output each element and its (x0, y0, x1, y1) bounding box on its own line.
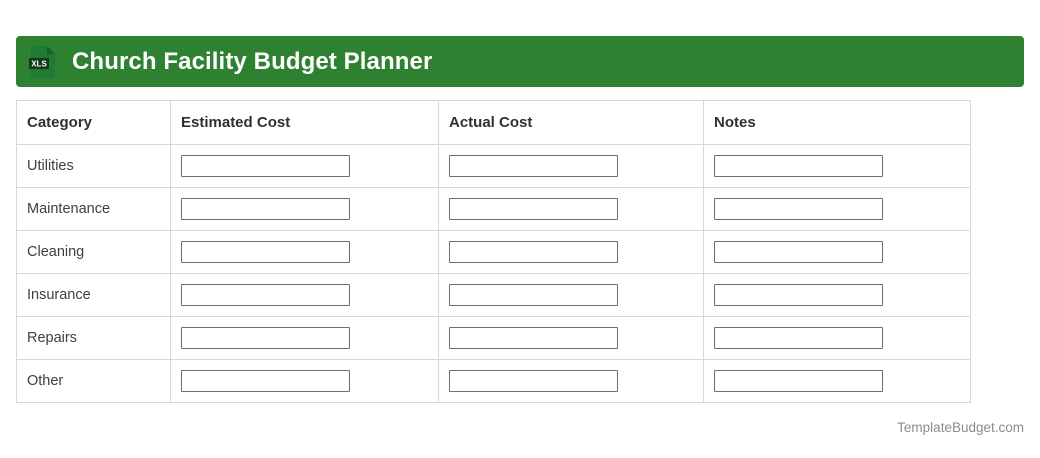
estimated-cost-input[interactable] (181, 327, 350, 349)
notes-cell (704, 188, 971, 231)
actual-cost-cell (439, 231, 704, 274)
category-label: Utilities (17, 145, 171, 188)
estimated-cost-input[interactable] (181, 370, 350, 392)
column-header-notes: Notes (704, 101, 971, 145)
category-label: Cleaning (17, 231, 171, 274)
estimated-cost-cell (171, 188, 439, 231)
actual-cost-input[interactable] (449, 370, 618, 392)
table-body: Utilities Maintenance (17, 145, 971, 403)
actual-cost-input[interactable] (449, 155, 618, 177)
notes-cell (704, 231, 971, 274)
table-row: Maintenance (17, 188, 971, 231)
svg-text:XLS: XLS (31, 59, 47, 68)
category-label: Maintenance (17, 188, 171, 231)
notes-input[interactable] (714, 198, 883, 220)
table-row: Cleaning (17, 231, 971, 274)
table-header-row: Category Estimated Cost Actual Cost Note… (17, 101, 971, 145)
actual-cost-input[interactable] (449, 327, 618, 349)
column-header-estimated-cost: Estimated Cost (171, 101, 439, 145)
notes-cell (704, 274, 971, 317)
page-header-banner: XLS Church Facility Budget Planner (16, 36, 1024, 87)
table-row: Repairs (17, 317, 971, 360)
budget-table: Category Estimated Cost Actual Cost Note… (16, 100, 971, 403)
estimated-cost-cell (171, 231, 439, 274)
estimated-cost-cell (171, 274, 439, 317)
estimated-cost-input[interactable] (181, 241, 350, 263)
table-header: Category Estimated Cost Actual Cost Note… (17, 101, 971, 145)
notes-cell (704, 145, 971, 188)
estimated-cost-input[interactable] (181, 198, 350, 220)
actual-cost-cell (439, 317, 704, 360)
notes-cell (704, 317, 971, 360)
notes-input[interactable] (714, 327, 883, 349)
estimated-cost-cell (171, 360, 439, 403)
actual-cost-input[interactable] (449, 284, 618, 306)
column-header-category: Category (17, 101, 171, 145)
actual-cost-cell (439, 360, 704, 403)
estimated-cost-cell (171, 317, 439, 360)
notes-input[interactable] (714, 241, 883, 263)
page-root: XLS Church Facility Budget Planner Categ… (0, 0, 1040, 458)
actual-cost-cell (439, 274, 704, 317)
category-label: Insurance (17, 274, 171, 317)
category-label: Other (17, 360, 171, 403)
estimated-cost-input[interactable] (181, 284, 350, 306)
xls-file-icon: XLS (28, 45, 58, 79)
actual-cost-input[interactable] (449, 198, 618, 220)
notes-input[interactable] (714, 155, 883, 177)
category-label: Repairs (17, 317, 171, 360)
budget-table-container: Category Estimated Cost Actual Cost Note… (16, 100, 970, 403)
estimated-cost-cell (171, 145, 439, 188)
table-row: Other (17, 360, 971, 403)
actual-cost-cell (439, 188, 704, 231)
footer-attribution: TemplateBudget.com (897, 420, 1024, 435)
table-row: Insurance (17, 274, 971, 317)
column-header-actual-cost: Actual Cost (439, 101, 704, 145)
table-row: Utilities (17, 145, 971, 188)
actual-cost-cell (439, 145, 704, 188)
page-title: Church Facility Budget Planner (72, 50, 432, 74)
actual-cost-input[interactable] (449, 241, 618, 263)
estimated-cost-input[interactable] (181, 155, 350, 177)
notes-input[interactable] (714, 370, 883, 392)
notes-cell (704, 360, 971, 403)
notes-input[interactable] (714, 284, 883, 306)
